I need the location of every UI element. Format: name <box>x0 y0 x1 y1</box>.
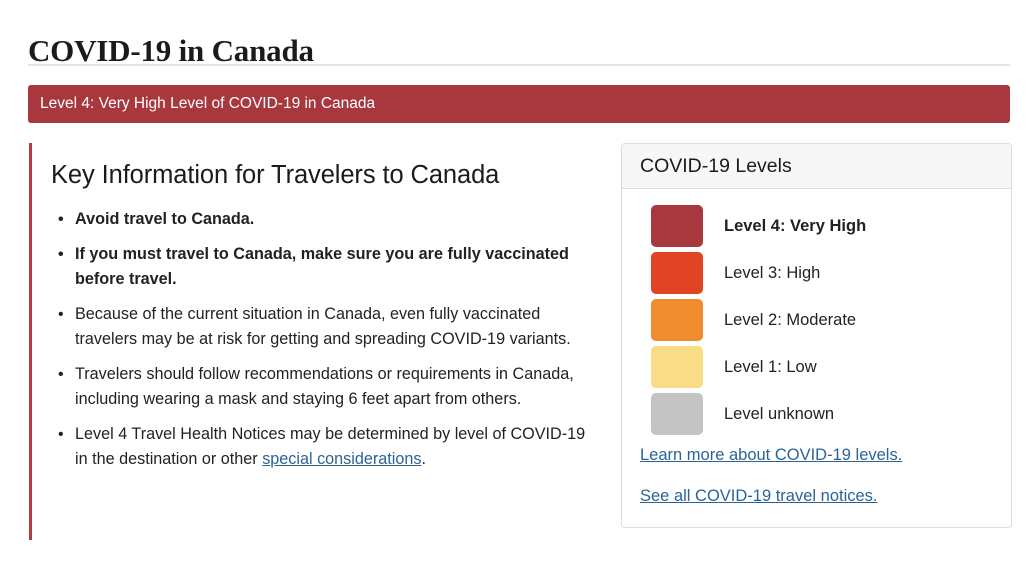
key-information-bullet: Travelers should follow recommendations … <box>51 362 599 412</box>
special-considerations-link[interactable]: special considerations <box>262 450 421 468</box>
key-information-section: Key Information for Travelers to Canada … <box>29 143 599 540</box>
legend-row: Level unknown <box>622 393 1011 435</box>
bullet-text: If you must travel to Canada, make sure … <box>75 245 569 288</box>
bullet-text: Because of the current situation in Cana… <box>75 305 571 348</box>
level-banner: Level 4: Very High Level of COVID-19 in … <box>28 85 1010 123</box>
bullet-text: Avoid travel to Canada. <box>75 210 254 228</box>
all-travel-notices-link[interactable]: See all COVID-19 travel notices. <box>640 485 1011 507</box>
covid-levels-panel: COVID-19 Levels Level 4: Very HighLevel … <box>621 143 1012 528</box>
legend-row: Level 1: Low <box>622 346 1011 388</box>
learn-more-levels-link[interactable]: Learn more about COVID-19 levels. <box>640 444 1011 466</box>
legend-color-swatch <box>651 252 703 294</box>
covid-levels-legend: Level 4: Very HighLevel 3: HighLevel 2: … <box>622 205 1011 435</box>
legend-row: Level 3: High <box>622 252 1011 294</box>
legend-color-swatch <box>651 299 703 341</box>
legend-row: Level 4: Very High <box>622 205 1011 247</box>
legend-color-swatch <box>651 346 703 388</box>
legend-label: Level unknown <box>724 404 834 424</box>
key-information-list: Avoid travel to Canada.If you must trave… <box>51 207 599 472</box>
covid-levels-panel-header: COVID-19 Levels <box>622 144 1011 189</box>
key-information-bullet: Avoid travel to Canada. <box>51 207 599 232</box>
key-information-bullet: Level 4 Travel Health Notices may be det… <box>51 422 599 472</box>
bullet-text: Travelers should follow recommendations … <box>75 365 574 408</box>
key-information-bullet: Because of the current situation in Cana… <box>51 302 599 352</box>
legend-row: Level 2: Moderate <box>622 299 1011 341</box>
legend-label: Level 1: Low <box>724 357 817 377</box>
main-content: Key Information for Travelers to Canada … <box>0 140 1028 560</box>
covid-levels-panel-title: COVID-19 Levels <box>622 144 1011 188</box>
covid-levels-panel-body: Level 4: Very HighLevel 3: HighLevel 2: … <box>622 189 1011 507</box>
legend-label: Level 4: Very High <box>724 216 866 236</box>
legend-color-swatch <box>651 393 703 435</box>
key-information-bullet: If you must travel to Canada, make sure … <box>51 242 599 292</box>
legend-label: Level 2: Moderate <box>724 310 856 330</box>
level-banner-text: Level 4: Very High Level of COVID-19 in … <box>40 85 375 123</box>
key-information-heading: Key Information for Travelers to Canada <box>51 143 599 191</box>
bullet-text: . <box>421 450 426 468</box>
legend-color-swatch <box>651 205 703 247</box>
legend-label: Level 3: High <box>724 263 820 283</box>
title-divider <box>28 64 1010 66</box>
covid-levels-panel-links: Learn more about COVID-19 levels.See all… <box>622 440 1011 507</box>
